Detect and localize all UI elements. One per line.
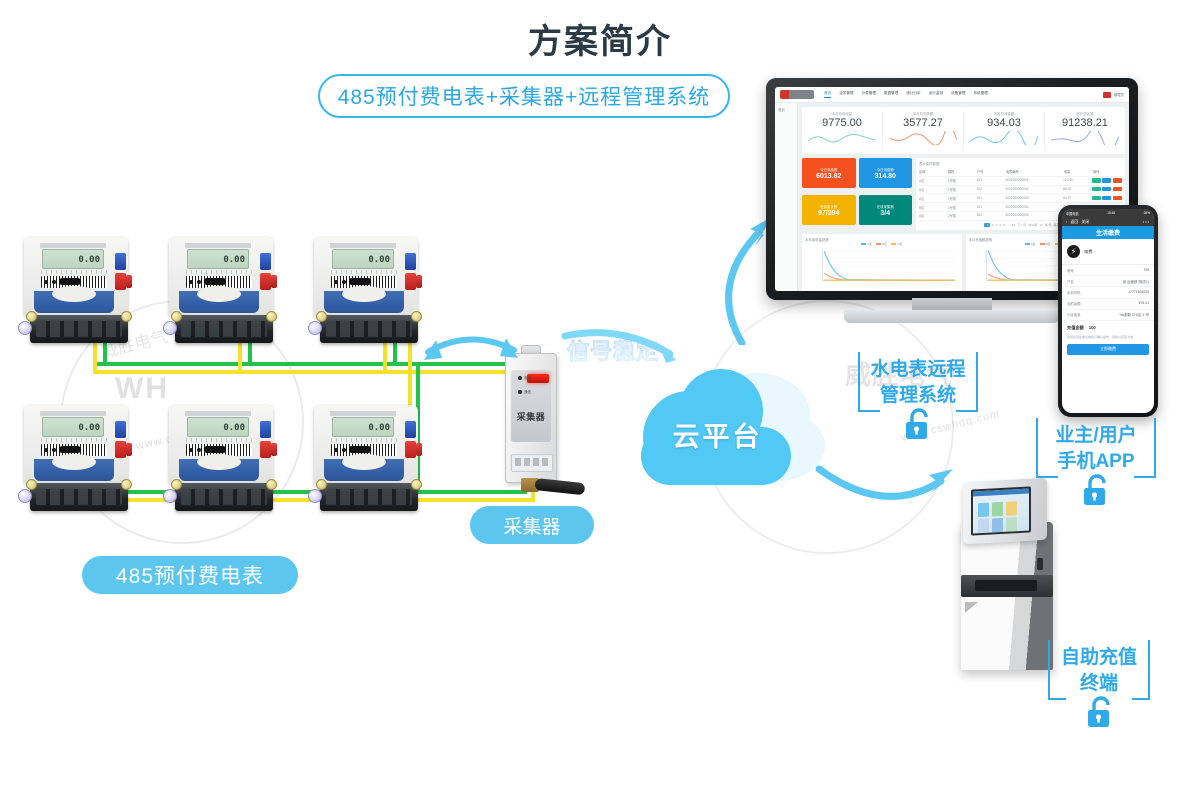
phone-battery: 36% — [1144, 211, 1150, 215]
meter-mount-clamp — [171, 311, 182, 322]
phone-carrier: 中国电信 — [1066, 211, 1079, 216]
nav-item-monitoring[interactable]: 运行监测 — [929, 91, 943, 98]
field-value: %o配新·D·A区·1·号 — [1119, 312, 1149, 317]
cell-energy: 88.20 — [1063, 187, 1092, 192]
meter-mount-clamp — [266, 311, 277, 322]
meter-indicator-dot — [52, 448, 56, 452]
col-room: 户号 — [977, 169, 1006, 174]
meter-body: 0.00 — [24, 405, 128, 485]
col-building: 楼栋 — [948, 169, 977, 174]
cell-meter-no: 3021000000003 — [1005, 196, 1063, 201]
unlock-icon — [1080, 472, 1112, 508]
nav-item-billing[interactable]: 计费管理 — [862, 91, 876, 98]
meter-top-strip — [185, 243, 251, 248]
kpi-label: 本月总用电量 — [802, 111, 882, 116]
meter-red-button[interactable] — [115, 273, 126, 290]
bracket-bottom-left — [1048, 698, 1066, 700]
meter-body: 0.00 — [314, 237, 418, 317]
tile-label: 今日消费额 — [877, 167, 894, 172]
kiosk-app-icon[interactable] — [978, 519, 989, 534]
cell-building: 2号楼 — [948, 213, 977, 218]
meter-optical-port — [18, 321, 32, 335]
page-4[interactable]: 4 — [999, 223, 1001, 227]
action-trip-button[interactable] — [1113, 178, 1122, 183]
page-size-unit: 条/页 — [1045, 223, 1052, 227]
meter-lcd-display: 0.00 — [42, 249, 104, 269]
tile-value: 3/4 — [880, 210, 890, 217]
nav-item-devices[interactable]: 设备管理 — [951, 91, 965, 98]
phone-note: 充值后请在电表端执行确认操作，到账以实际为准 — [1062, 335, 1154, 342]
meter-top-strip — [330, 411, 396, 416]
table-row[interactable]: A区 1号楼 101 3021000000001 120.50 — [919, 177, 1122, 186]
meter-blue-button[interactable] — [260, 253, 271, 270]
bracket-bottom-right — [1132, 698, 1150, 700]
tile-online-collectors[interactable]: 在线采集器 3/4 — [859, 195, 913, 225]
meter-lower-panel — [34, 291, 114, 313]
page-5[interactable]: 5 — [1003, 223, 1005, 227]
cell-meter-no: 3021000000004 — [1005, 205, 1063, 210]
collector-comm-led — [518, 390, 522, 394]
meter-mount-clamp — [411, 479, 422, 490]
field-label: 户名 — [1067, 279, 1074, 284]
meter-mount-clamp — [171, 479, 182, 490]
electric-meter[interactable]: 0.00 — [165, 237, 283, 347]
field-value: 17771604009 — [1128, 290, 1149, 295]
dashboard-user-area[interactable]: 管理员 — [1103, 92, 1124, 98]
meter-ir-port — [204, 446, 226, 453]
meter-scale-ticks — [331, 270, 397, 274]
phone-field-row: 手机号码 17771604009 — [1062, 287, 1154, 298]
table-row[interactable]: A区 2号楼 201 3021000000003 64.70 — [919, 194, 1122, 203]
meter-seal — [416, 275, 422, 288]
meter-mount-clamp — [121, 311, 132, 322]
cell-room: 101 — [977, 178, 1006, 183]
meter-optical-port — [308, 489, 322, 503]
meter-red-button[interactable] — [115, 441, 126, 458]
kpi-card: 本月总消费额 934.03 — [964, 111, 1045, 150]
meter-lcd-display: 0.00 — [332, 417, 394, 437]
field-value: ¥76.41 — [1139, 301, 1149, 306]
meter-body: 0.00 — [169, 405, 273, 485]
cell-room: 101 — [977, 205, 1006, 210]
page-ellipsis: … — [1007, 223, 1010, 227]
meter-seal — [271, 275, 277, 288]
bracket-bottom-left — [858, 410, 880, 412]
meter-top-strip — [40, 243, 106, 248]
cell-area: A区 — [919, 187, 948, 192]
kpi-sparkline — [888, 131, 958, 145]
tile-label: 在线表计数 — [820, 204, 837, 209]
kiosk-app-icon[interactable] — [1006, 517, 1017, 532]
meter-lower-panel — [179, 291, 259, 313]
phone-status-bar: 中国电信 15:48 36% — [1062, 209, 1154, 217]
meter-lower-panel — [324, 291, 404, 313]
cell-meter-no: 3021000000002 — [1005, 187, 1063, 192]
chart-plot — [805, 246, 959, 286]
meter-ir-port — [59, 446, 81, 453]
tile-online-meters[interactable]: 在线表计数 97/394 — [802, 195, 856, 225]
meter-lower-panel — [179, 459, 259, 481]
cell-building: 1号楼 — [948, 187, 977, 192]
kpi-value: 3577.27 — [883, 117, 963, 129]
bracket-bottom-right — [1134, 476, 1156, 478]
collector-label-pill: 采集器 — [470, 506, 594, 544]
action-trip-button[interactable] — [1113, 187, 1122, 192]
page-active[interactable]: 1 — [984, 223, 990, 227]
action-recharge-button[interactable] — [1102, 178, 1111, 183]
kpi-row: 本月总用电量 9775.00 本月总充值额 3577.27 — [802, 107, 1125, 154]
kiosk-keypad-tray[interactable] — [961, 575, 1053, 597]
meter-seal — [271, 443, 277, 456]
meter-optical-port — [308, 321, 322, 335]
unlock-icon — [1084, 694, 1116, 730]
phone-category-label: 电费 — [1084, 249, 1092, 255]
meter-scale-ticks — [41, 270, 107, 274]
meter-body: 0.00 — [24, 237, 128, 317]
mobile-phone[interactable]: 中国电信 15:48 36% ‹ 返回 关闭 ••• 生活缴费 ⚡ 电费 房号 … — [1058, 205, 1158, 417]
meter-ir-port — [204, 278, 226, 285]
meter-terminal-block — [320, 483, 418, 511]
meter-indicator-dot — [197, 448, 201, 452]
cell-building: 1号楼 — [948, 178, 977, 183]
kpi-card: 账户总余额 91238.21 — [1045, 111, 1125, 150]
management-system-label-line2: 管理系统 — [858, 380, 978, 407]
kiosk-label-line1: 自助充值 — [1048, 642, 1150, 669]
meter-indicator-dot — [44, 280, 48, 284]
meter-terminal-block — [175, 483, 273, 511]
meter-scale-ticks — [41, 438, 107, 442]
kpi-card: 本月总充值额 3577.27 — [883, 111, 964, 150]
cell-building: 2号楼 — [948, 196, 977, 201]
tile-today-recharge[interactable]: 今日充值额 6013.82 — [802, 158, 856, 188]
nav-item-business[interactable]: 业务管理 — [839, 91, 853, 98]
field-value: 705 — [1143, 268, 1149, 273]
meter-indicator-dot — [189, 448, 193, 452]
meter-seal — [126, 443, 132, 456]
col-energy: 电量 — [1064, 169, 1093, 174]
collector-comm-label: 通信 — [524, 390, 531, 395]
meter-top-strip — [185, 411, 251, 416]
phone-field-row: 房号 705 — [1062, 265, 1154, 276]
phone-amount-field[interactable]: 充值金额 100 — [1062, 321, 1154, 335]
kiosk-bracket: 自助充值 终端 — [1048, 640, 1150, 750]
phone-screen[interactable]: 中国电信 15:48 36% ‹ 返回 关闭 ••• 生活缴费 ⚡ 电费 房号 … — [1062, 209, 1154, 413]
phone-nav-bar[interactable]: ‹ 返回 关闭 ••• — [1062, 217, 1154, 226]
meter-lcd-display: 0.00 — [42, 417, 104, 437]
cloud-platform[interactable]: 云平台 — [635, 365, 835, 495]
action-view-button[interactable] — [1092, 196, 1101, 201]
meter-indicator-dot — [197, 280, 201, 284]
field-value: 张·运营部·测试01 — [1123, 279, 1149, 284]
page-3[interactable]: 3 — [996, 223, 998, 227]
field-label: 小区信息 — [1067, 312, 1081, 317]
action-view-button[interactable] — [1092, 178, 1101, 183]
bracket-bottom-right — [956, 410, 978, 412]
lightning-icon: ⚡ — [1067, 245, 1080, 258]
meter-indicator-dot — [189, 280, 193, 284]
amount-label: 充值金额 — [1067, 325, 1084, 331]
page-next-label[interactable]: 下一页 — [1017, 223, 1026, 227]
kpi-card: 本月总用电量 9775.00 — [802, 111, 883, 150]
dashboard-logo — [780, 90, 814, 99]
kpi-sparkline — [1050, 131, 1120, 145]
phone-category: ⚡ 电费 — [1062, 239, 1154, 265]
kiosk-app-icon[interactable] — [978, 503, 989, 518]
tile-value: 314.80 — [875, 173, 896, 180]
kiosk-app-icon[interactable] — [992, 518, 1003, 533]
meter-lcd-display: 0.00 — [187, 249, 249, 269]
col-actions: 操作 — [1093, 169, 1122, 174]
cell-actions[interactable] — [1092, 196, 1122, 201]
nav-item-home[interactable]: 首页 — [824, 91, 831, 98]
meter-body: 0.00 — [169, 237, 273, 317]
cell-meter-no: 3021000000001 — [1005, 178, 1063, 183]
meter-red-button[interactable] — [260, 441, 271, 458]
meter-indicator-dot — [342, 280, 346, 284]
energy-trend-chart: 本月用电量趋势 A区 B区 C区 — [802, 234, 962, 291]
col-area: 区域 — [919, 169, 948, 174]
kpi-tiles: 今日充值额 6013.82 今日消费额 314.80 在线表计数 97/394 — [802, 158, 912, 230]
tile-label: 今日充值额 — [820, 167, 837, 172]
kiosk-screen[interactable] — [971, 486, 1031, 535]
phone-field-row: 户名 张·运营部·测试01 — [1062, 276, 1154, 287]
action-trip-button[interactable] — [1113, 196, 1122, 201]
back-chevron-icon[interactable]: ‹ — [1066, 219, 1067, 224]
cell-actions[interactable] — [1092, 178, 1122, 183]
tile-label: 在线采集器 — [877, 204, 894, 209]
field-label: 手机号码 — [1067, 290, 1081, 295]
management-system-label-line1: 水电表远程 — [858, 354, 978, 381]
page-size[interactable]: 10 — [1039, 223, 1042, 227]
cell-room: 201 — [977, 196, 1006, 201]
page-total: 共10页 — [1028, 223, 1037, 227]
meter-terminal-block — [175, 315, 273, 343]
cell-meter-no: 3021000000005 — [1005, 213, 1063, 218]
more-options-icon[interactable]: ••• — [1143, 219, 1150, 224]
kpi-value: 91238.21 — [1045, 117, 1125, 129]
kpi-label: 账户总余额 — [1045, 111, 1125, 116]
electric-meter[interactable]: 0.00 — [165, 405, 283, 515]
meter-mount-clamp — [26, 479, 37, 490]
kpi-sparkline — [807, 131, 877, 145]
meter-top-strip — [40, 411, 106, 416]
phone-submit-button[interactable]: 立即缴费 — [1067, 344, 1149, 355]
kpi-label: 本月总充值额 — [883, 111, 963, 116]
kiosk-app-icon[interactable] — [1006, 501, 1017, 516]
mobile-app-bracket: 业主/用户 手机APP — [1036, 418, 1156, 530]
meter-indicator-dot — [334, 448, 338, 452]
meter-seal — [416, 443, 422, 456]
meter-mount-clamp — [411, 311, 422, 322]
tile-value: 6013.82 — [816, 173, 841, 180]
meter-optical-port — [18, 489, 32, 503]
electric-meter[interactable]: 0.00 — [20, 405, 138, 515]
meter-mount-clamp — [26, 311, 37, 322]
mobile-app-label-line1: 业主/用户 — [1036, 420, 1156, 447]
phone-back-label[interactable]: 返回 — [1070, 219, 1078, 225]
collector-terminal-ports — [511, 454, 553, 472]
meter-optical-port — [163, 321, 177, 335]
phone-field-row: 小区信息 %o配新·D·A区·1·号 — [1062, 310, 1154, 321]
meter-red-button[interactable] — [405, 441, 416, 458]
nav-item-stats[interactable]: 统计分析 — [906, 91, 920, 98]
page-prev[interactable]: ‹ — [981, 223, 982, 227]
cell-room: 102 — [977, 187, 1006, 192]
electric-meter[interactable]: 0.00 — [310, 405, 428, 515]
tile-value: 97/394 — [818, 210, 839, 217]
kpi-label: 本月总消费额 — [964, 111, 1044, 116]
meter-lower-panel — [324, 459, 404, 481]
unlock-icon — [902, 406, 934, 442]
field-label: 当前余额 — [1067, 301, 1081, 306]
meter-scale-ticks — [186, 438, 252, 442]
meter-ir-port — [349, 446, 371, 453]
nav-item-system[interactable]: 系统管理 — [973, 91, 987, 98]
tile-today-consumption[interactable]: 今日消费额 314.80 — [859, 158, 913, 188]
meter-mount-clamp — [121, 479, 132, 490]
dashboard-username: 管理员 — [1114, 92, 1124, 97]
meter-optical-port — [163, 489, 177, 503]
bracket-bottom-left — [1036, 476, 1058, 478]
meter-lcd-display: 0.00 — [332, 249, 394, 269]
kiosk-label-line2: 终端 — [1048, 668, 1150, 695]
meter-indicator-dot — [342, 448, 346, 452]
dashboard-topbar: 首页 业务管理 计费管理 数据管理 统计分析 运行监测 设备管理 系统管理 管理… — [775, 87, 1129, 103]
cell-energy: 120.50 — [1063, 178, 1092, 183]
phone-time: 15:48 — [1107, 211, 1115, 215]
meter-blue-button[interactable] — [115, 253, 126, 270]
meter-blue-button[interactable] — [115, 421, 126, 438]
meter-blue-button[interactable] — [405, 421, 416, 438]
kpi-value: 9775.00 — [802, 117, 882, 129]
phone-close-label[interactable]: 关闭 — [1081, 219, 1089, 225]
meter-mount-clamp — [266, 479, 277, 490]
meters-label-text: 485预付费电表 — [116, 560, 264, 590]
phone-field-row: 当前余额 ¥76.41 — [1062, 299, 1154, 310]
cell-energy: 64.70 — [1063, 196, 1092, 201]
collector-label-text: 采集器 — [503, 512, 560, 539]
kiosk-screen-header — [973, 489, 1029, 497]
meter-mount-clamp — [316, 311, 327, 322]
meter-ir-port — [349, 278, 371, 285]
page-2[interactable]: 2 — [992, 223, 994, 227]
meter-seal — [126, 275, 132, 288]
meter-red-button[interactable] — [260, 273, 271, 290]
dashboard-nav[interactable]: 首页 业务管理 计费管理 数据管理 统计分析 运行监测 设备管理 系统管理 — [824, 91, 988, 98]
dashboard-sidebar[interactable]: 首页 — [775, 103, 798, 291]
meter-lower-panel — [34, 459, 114, 481]
meter-blue-button[interactable] — [405, 253, 416, 270]
sidebar-item-home[interactable]: 首页 — [775, 107, 797, 112]
meter-blue-button[interactable] — [260, 421, 271, 438]
table-header-row: 区域 楼栋 户号 电表编号 电量 操作 — [919, 168, 1122, 177]
meter-red-button[interactable] — [405, 273, 416, 290]
collector-front-panel: 电源 通信 采集器 — [511, 370, 551, 442]
meter-indicator-dot — [52, 280, 56, 284]
cell-actions[interactable] — [1092, 187, 1122, 192]
meter-lcd-display: 0.00 — [187, 417, 249, 437]
page-last[interactable]: 10 — [1012, 223, 1015, 227]
meters-to-collector-arrow — [410, 330, 530, 380]
management-system-bracket: 水电表远程 管理系统 — [858, 352, 978, 464]
field-label: 房号 — [1067, 268, 1074, 273]
kiosk-side-panel — [965, 602, 978, 613]
meter-mount-clamp — [316, 479, 327, 490]
amount-value[interactable]: 100 — [1089, 325, 1096, 330]
user-avatar-icon — [1103, 92, 1111, 98]
kiosk-card-slot[interactable] — [1037, 558, 1043, 570]
cell-area: B区 — [919, 205, 948, 210]
meter-top-strip — [330, 243, 396, 248]
meter-scale-ticks — [186, 270, 252, 274]
action-view-button[interactable] — [1092, 187, 1101, 192]
electric-meter[interactable]: 0.00 — [20, 237, 138, 347]
meter-body: 0.00 — [314, 405, 418, 485]
kpi-value: 934.03 — [964, 117, 1044, 129]
table-row[interactable]: A区 1号楼 102 3021000000002 88.20 — [919, 186, 1122, 195]
meter-ir-port — [59, 278, 81, 285]
cell-room: 302 — [977, 213, 1006, 218]
col-meter-no: 电表编号 — [1006, 169, 1064, 174]
action-recharge-button[interactable] — [1102, 187, 1111, 192]
table-title: 表计实时数据 — [919, 161, 1122, 166]
meters-label-pill: 485预付费电表 — [82, 556, 298, 594]
mobile-app-label-line2: 手机APP — [1036, 446, 1156, 473]
nav-item-data[interactable]: 数据管理 — [884, 91, 898, 98]
kpi-sparkline — [969, 131, 1039, 145]
kiosk-app-icon[interactable] — [992, 502, 1003, 517]
monitor-stand — [844, 310, 1060, 323]
cell-building: 1号楼 — [948, 205, 977, 210]
cloud-platform-label: 云平台 — [635, 415, 800, 454]
collector-device-name: 采集器 — [511, 410, 551, 423]
meter-scale-ticks — [331, 438, 397, 442]
phone-page-title: 生活缴费 — [1062, 226, 1154, 239]
meter-terminal-block — [30, 315, 128, 343]
meter-indicator-dot — [334, 280, 338, 284]
cell-area: A区 — [919, 178, 948, 183]
meter-terminal-block — [320, 315, 418, 343]
cell-area: A区 — [919, 196, 948, 201]
cell-area: B区 — [919, 213, 948, 218]
meter-indicator-dot — [44, 448, 48, 452]
action-recharge-button[interactable] — [1102, 196, 1111, 201]
meter-terminal-block — [30, 483, 128, 511]
